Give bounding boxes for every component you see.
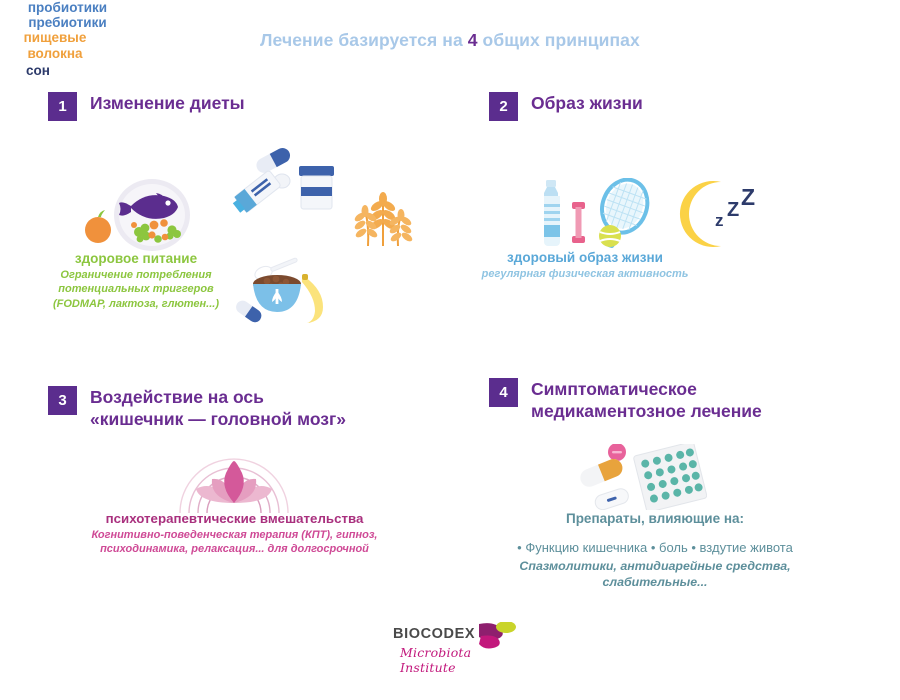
- svg-text:z: z: [715, 211, 724, 230]
- svg-text:Z: Z: [727, 199, 739, 221]
- svg-text:Z: Z: [741, 184, 755, 210]
- section-title-2: Образ жизни: [531, 93, 643, 115]
- probiotics-label: пробиотики: [0, 0, 135, 15]
- biocodex-logo: BIOCODEX Microbiota Institute: [393, 622, 518, 668]
- psychotherapy-caption: психотерапевтические вмешательства Когни…: [62, 510, 407, 557]
- infographic-page: Лечение базируется на 4 общих принципах …: [0, 0, 900, 700]
- healthy-food-label: здоровое питание: [34, 250, 238, 268]
- psychotherapy-label: психотерапевтические вмешательства: [62, 510, 407, 528]
- supplement-jar-icon: [231, 144, 339, 214]
- section-title-4: Симптоматическое медикаментозное лечение: [531, 379, 762, 423]
- healthy-food-caption: здоровое питание Ограничение потребления…: [34, 250, 238, 311]
- section-badge-1: 1: [48, 92, 77, 121]
- wheat-icon: [348, 180, 418, 250]
- drugs-sub: Спазмолитики, антидиарейные средства, сл…: [470, 558, 840, 591]
- section-title-1: Изменение диеты: [90, 93, 245, 115]
- page-title: Лечение базируется на 4 общих принципах: [0, 30, 900, 51]
- lifestyle-label: здоровый образ жизни: [480, 249, 690, 267]
- page-title-before: Лечение базируется на: [260, 30, 468, 50]
- section-header-2: 2 Образ жизни: [489, 92, 643, 121]
- moon-zzz-icon: z Z Z: [677, 178, 763, 248]
- section-badge-2: 2: [489, 92, 518, 121]
- prebiotics-label: пребиотики: [0, 15, 135, 30]
- drugs-label: Препараты, влияющие на:: [470, 510, 840, 528]
- sleep-label: сон: [0, 63, 76, 78]
- section-header-4: 4 Симптоматическое медикаментозное лечен…: [489, 378, 762, 423]
- section-title-3: Воздействие на ось «кишечник — головной …: [90, 387, 346, 431]
- section-badge-4: 4: [489, 378, 518, 407]
- logo-wordmark: BIOCODEX: [393, 626, 475, 642]
- lotus-icon: [172, 441, 296, 513]
- lifestyle-sub: регулярная физическая активность: [480, 267, 690, 282]
- water-dumbbell-racket-icon: [524, 178, 676, 248]
- section-header-1: 1 Изменение диеты: [48, 92, 245, 121]
- pills-blister-icon: [565, 444, 707, 510]
- drugs-bullets: • Функцию кишечника • боль • вздутие жив…: [470, 539, 840, 556]
- page-title-highlight: 4: [468, 30, 478, 50]
- plate-with-fish-icon: [84, 178, 202, 252]
- drugs-caption: Препараты, влияющие на: • Функцию кишечн…: [470, 510, 840, 591]
- logo-tagline: Microbiota Institute: [400, 645, 518, 675]
- healthy-food-sub: Ограничение потребления потенциальных тр…: [34, 268, 238, 312]
- psychotherapy-sub: Когнитивно-поведенческая терапия (КПТ), …: [62, 528, 407, 557]
- bowl-banana-icon: [231, 255, 343, 327]
- section-badge-3: 3: [48, 386, 77, 415]
- section-header-3: 3 Воздействие на ось «кишечник — головно…: [48, 386, 346, 431]
- lifestyle-caption: здоровый образ жизни регулярная физическ…: [480, 249, 690, 281]
- page-title-after: общих принципах: [478, 30, 640, 50]
